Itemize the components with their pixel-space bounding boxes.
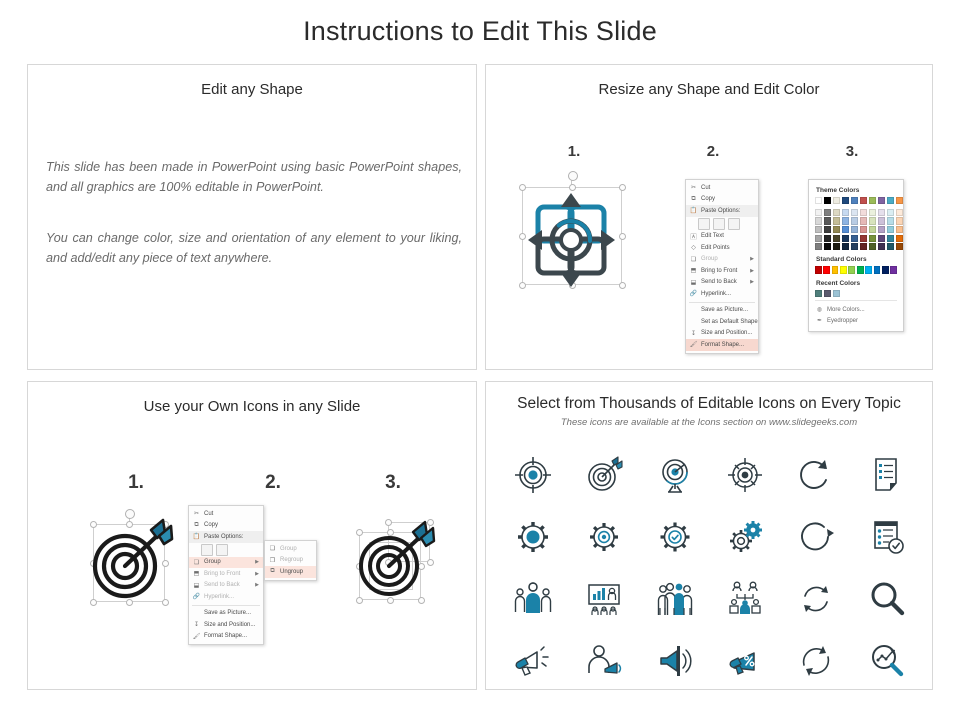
four-quadrant-shape-icon <box>514 175 629 290</box>
standard-colors-label: Standard Colors <box>816 256 897 263</box>
org-chart-icon <box>724 578 766 620</box>
theme-color-variant-swatch[interactable] <box>887 226 894 233</box>
submenu-item-group[interactable]: ❏ Group <box>265 543 316 555</box>
send-back-icon: ⬓ <box>689 278 698 287</box>
icon-refresh-arrow[interactable] <box>781 444 852 506</box>
panel-edit-any-shape: Edit any Shape This slide has been made … <box>27 64 477 370</box>
chevron-right-icon: ▶ <box>255 571 259 577</box>
theme-color-variant-swatch[interactable] <box>887 235 894 242</box>
step-number-2: 2. <box>253 472 293 494</box>
instruction-paragraph-2: You can change color, size and orientati… <box>46 228 462 268</box>
presentation-audience-icon <box>583 578 625 620</box>
theme-color-variant-swatch[interactable] <box>860 209 867 216</box>
leadership-people-icon <box>512 578 554 620</box>
paste-keep-formatting-icon[interactable] <box>698 218 710 230</box>
ungroup-icon: ⧉ <box>268 567 277 576</box>
menu-item-group[interactable]: ❏ Group ▶ <box>189 557 263 569</box>
target-ungrouped-stage[interactable] <box>333 514 453 619</box>
palette-icon: ◍ <box>815 305 824 314</box>
theme-color-column[interactable] <box>860 197 867 250</box>
theme-color-variant-swatch[interactable] <box>842 217 849 224</box>
icon-target-stand[interactable] <box>639 444 710 506</box>
target-arrow-icon <box>73 512 183 617</box>
theme-color-swatch[interactable] <box>842 197 849 204</box>
step-number-1: 1. <box>116 472 156 494</box>
icon-gear-dot[interactable] <box>569 506 640 568</box>
theme-color-variant-swatch[interactable] <box>878 226 885 233</box>
menu-item-copy[interactable]: ⧉ Copy <box>686 194 758 206</box>
menu-item-format-shape[interactable]: 🖌 Format Shape... <box>686 339 758 351</box>
group-icon: ❏ <box>192 558 201 567</box>
cycle-arrows-icon <box>795 578 837 620</box>
menu-item-bring-to-front[interactable]: ⬒ Bring to Front ▶ <box>189 568 263 580</box>
page-title: Instructions to Edit This Slide <box>0 16 960 47</box>
format-shape-icon: 🖌 <box>192 632 201 641</box>
theme-color-swatch[interactable] <box>896 197 903 204</box>
chevron-right-icon: ▶ <box>255 582 259 588</box>
theme-color-variant-swatch[interactable] <box>833 243 840 250</box>
clipboard-icon: 📋 <box>192 532 201 541</box>
icon-circular-arrow[interactable] <box>781 506 852 568</box>
menu-separator <box>192 605 260 606</box>
icon-crosshair-scope[interactable] <box>710 444 781 506</box>
theme-color-variant-swatch[interactable] <box>815 217 822 224</box>
more-colors-button[interactable]: ◍ More Colors... <box>815 304 897 315</box>
icon-leadership-people[interactable] <box>498 568 569 630</box>
group-icon: ❏ <box>689 255 698 264</box>
theme-color-swatch[interactable] <box>860 197 867 204</box>
copy-icon: ⧉ <box>689 195 698 204</box>
team-group-icon <box>654 578 696 620</box>
none-icon <box>192 609 201 618</box>
panel-heading: Resize any Shape and Edit Color <box>486 81 932 98</box>
theme-color-variant-swatch[interactable] <box>842 209 849 216</box>
panel-heading: Use your Own Icons in any Slide <box>28 398 476 415</box>
menu-item-edit-text[interactable]: 🄰 Edit Text <box>686 231 758 243</box>
theme-color-variant-swatch[interactable] <box>878 217 885 224</box>
gear-dot-icon <box>583 516 625 558</box>
double-gear-icon <box>724 516 766 558</box>
panel-resize-any-shape: Resize any Shape and Edit Color 1. 2. 3. <box>485 64 933 370</box>
speaker-icon <box>654 640 696 682</box>
instruction-paragraph-1: This slide has been made in PowerPoint u… <box>46 157 462 197</box>
standard-color-swatch[interactable] <box>865 266 872 273</box>
panel-use-own-icons: Use your Own Icons in any Slide 1. 2. 3. <box>27 381 477 690</box>
icon-discount-megaphone[interactable] <box>710 630 781 692</box>
theme-color-swatch[interactable] <box>833 197 840 204</box>
format-shape-icon: 🖌 <box>689 340 698 349</box>
theme-color-variant-swatch[interactable] <box>842 243 849 250</box>
standard-color-swatch[interactable] <box>874 266 881 273</box>
standard-color-swatch[interactable] <box>832 266 839 273</box>
theme-color-swatch[interactable] <box>887 197 894 204</box>
theme-color-variant-swatch[interactable] <box>896 243 903 250</box>
paste-picture-icon[interactable] <box>216 544 228 556</box>
refresh-arrow-icon <box>795 454 837 496</box>
theme-color-variant-swatch[interactable] <box>887 209 894 216</box>
theme-color-variant-swatch[interactable] <box>878 235 885 242</box>
theme-color-column[interactable] <box>842 197 849 250</box>
icon-cycle-arrows[interactable] <box>781 568 852 630</box>
megaphone-icon <box>512 640 554 682</box>
menu-item-copy[interactable]: ⧉ Copy <box>189 520 263 532</box>
size-position-icon: ↧ <box>689 329 698 338</box>
theme-color-swatch[interactable] <box>824 197 831 204</box>
theme-color-variant-swatch[interactable] <box>824 209 831 216</box>
icon-document-check[interactable] <box>851 506 922 568</box>
menu-separator <box>689 302 755 303</box>
none-icon <box>689 306 698 315</box>
icon-presentation-audience[interactable] <box>569 568 640 630</box>
submenu-item-ungroup[interactable]: ⧉ Ungroup <box>265 566 316 578</box>
theme-color-variant-swatch[interactable] <box>824 243 831 250</box>
theme-color-swatch[interactable] <box>851 197 858 204</box>
bring-front-icon: ⬒ <box>689 266 698 275</box>
panel-icon-library: Select from Thousands of Editable Icons … <box>485 381 933 690</box>
theme-color-column[interactable] <box>824 197 831 250</box>
step-number-2: 2. <box>693 143 733 160</box>
icon-magnifier[interactable] <box>851 568 922 630</box>
gear-check-icon <box>654 516 696 558</box>
target-grouped-stage[interactable] <box>73 512 183 617</box>
group-icon: ❏ <box>268 544 277 553</box>
menu-item-group[interactable]: ❏ Group ▶ <box>686 254 758 266</box>
theme-color-variant-swatch[interactable] <box>878 243 885 250</box>
menu-item-save-as-picture[interactable]: Save as Picture... <box>189 608 263 620</box>
theme-color-variant-swatch[interactable] <box>833 209 840 216</box>
theme-color-variant-swatch[interactable] <box>860 217 867 224</box>
standard-color-swatch[interactable] <box>857 266 864 273</box>
edit-text-icon: 🄰 <box>689 232 698 241</box>
icon-team-group[interactable] <box>639 568 710 630</box>
menu-item-bring-to-front[interactable]: ⬒ Bring to Front ▶ <box>686 265 758 277</box>
send-back-icon: ⬓ <box>192 581 201 590</box>
panel-subheading: These icons are available at the Icons s… <box>486 417 932 428</box>
scissors-icon: ✂ <box>689 183 698 192</box>
powerpoint-context-menu-group[interactable]: ✂ Cut ⧉ Copy 📋 Paste Options: ❏ Group ▶ <box>188 505 264 645</box>
theme-color-variant-swatch[interactable] <box>896 226 903 233</box>
color-picker-panel[interactable]: Theme Colors Standard Colors Recent Colo… <box>808 179 904 332</box>
theme-color-variant-swatch[interactable] <box>887 217 894 224</box>
theme-color-variant-swatch[interactable] <box>824 235 831 242</box>
theme-color-variant-swatch[interactable] <box>869 243 876 250</box>
menu-item-hyperlink[interactable]: 🔗 Hyperlink... <box>189 591 263 603</box>
theme-color-variant-swatch[interactable] <box>896 235 903 242</box>
icon-double-gear[interactable] <box>710 506 781 568</box>
menu-item-cut[interactable]: ✂ Cut <box>686 182 758 194</box>
theme-color-swatch[interactable] <box>869 197 876 204</box>
panel-heading: Select from Thousands of Editable Icons … <box>486 395 932 413</box>
circular-arrow-icon <box>795 516 837 558</box>
icon-rotate-cycle[interactable] <box>781 630 852 692</box>
recent-colors-row[interactable] <box>815 290 897 297</box>
theme-color-variant-swatch[interactable] <box>851 243 858 250</box>
menu-item-cut[interactable]: ✂ Cut <box>189 508 263 520</box>
theme-color-column[interactable] <box>851 197 858 250</box>
magnifier-chart-icon <box>866 640 908 682</box>
theme-color-column[interactable] <box>815 197 822 250</box>
regroup-icon: ❐ <box>268 556 277 565</box>
theme-color-variant-swatch[interactable] <box>833 226 840 233</box>
theme-colors-label: Theme Colors <box>816 187 897 194</box>
size-position-icon: ↧ <box>192 620 201 629</box>
icon-megaphone[interactable] <box>498 630 569 692</box>
hyperlink-icon: 🔗 <box>192 592 201 601</box>
standard-color-swatch[interactable] <box>848 266 855 273</box>
standard-color-swatch[interactable] <box>840 266 847 273</box>
theme-color-variant-swatch[interactable] <box>842 235 849 242</box>
theme-color-variant-swatch[interactable] <box>815 226 822 233</box>
menu-item-format-shape[interactable]: 🖌 Format Shape... <box>189 631 263 643</box>
panel-heading: Edit any Shape <box>28 81 476 98</box>
chevron-right-icon: ▶ <box>255 559 259 565</box>
theme-color-variant-swatch[interactable] <box>860 243 867 250</box>
theme-color-variant-swatch[interactable] <box>887 243 894 250</box>
theme-color-variant-swatch[interactable] <box>842 226 849 233</box>
chevron-right-icon: ▶ <box>750 256 754 262</box>
paste-keep-formatting-icon[interactable] <box>201 544 213 556</box>
standard-color-swatch[interactable] <box>882 266 889 273</box>
theme-color-variant-swatch[interactable] <box>869 235 876 242</box>
hyperlink-icon: 🔗 <box>689 289 698 298</box>
eyedropper-icon: ✒ <box>815 316 824 325</box>
theme-color-variant-swatch[interactable] <box>851 226 858 233</box>
edit-points-icon: ◇ <box>689 243 698 252</box>
standard-color-swatch[interactable] <box>823 266 830 273</box>
scissors-icon: ✂ <box>192 509 201 518</box>
icon-speaker[interactable] <box>639 630 710 692</box>
theme-color-column[interactable] <box>869 197 876 250</box>
icon-magnifier-chart[interactable] <box>851 630 922 692</box>
theme-color-variant-swatch[interactable] <box>815 243 822 250</box>
theme-color-variant-swatch[interactable] <box>896 217 903 224</box>
none-icon <box>689 317 698 326</box>
copy-icon: ⧉ <box>192 521 201 530</box>
theme-color-variant-swatch[interactable] <box>833 217 840 224</box>
menu-item-paste-options: 📋 Paste Options: <box>189 531 263 543</box>
icon-org-chart[interactable] <box>710 568 781 630</box>
rotate-cycle-icon <box>795 640 837 682</box>
crosshair-scope-icon <box>724 454 766 496</box>
menu-item-edit-points[interactable]: ◇ Edit Points <box>686 242 758 254</box>
theme-color-variant-swatch[interactable] <box>869 226 876 233</box>
standard-colors-row[interactable] <box>815 266 897 273</box>
powerpoint-context-menu[interactable]: ✂ Cut ⧉ Copy 📋 Paste Options: 🄰 Edit Tex… <box>685 179 759 354</box>
checklist-document-icon <box>866 454 908 496</box>
theme-color-variant-swatch[interactable] <box>815 235 822 242</box>
group-submenu[interactable]: ❏ Group ❐ Regroup ⧉ Ungroup <box>264 540 317 581</box>
theme-color-swatch[interactable] <box>815 197 822 204</box>
four-quadrant-shape-stage[interactable] <box>514 175 629 290</box>
menu-item-paste-options: 📋 Paste Options: <box>686 205 758 217</box>
icon-checklist-document[interactable] <box>851 444 922 506</box>
paste-merge-formatting-icon[interactable] <box>713 218 725 230</box>
theme-color-variant-swatch[interactable] <box>860 226 867 233</box>
target-stand-icon <box>654 454 696 496</box>
standard-color-swatch[interactable] <box>815 266 822 273</box>
icon-target-arrow[interactable] <box>569 444 640 506</box>
divider <box>815 300 897 301</box>
theme-color-variant-swatch[interactable] <box>860 235 867 242</box>
menu-item-send-to-back[interactable]: ⬓ Send to Back ▶ <box>189 580 263 592</box>
theme-color-column[interactable] <box>896 197 903 250</box>
theme-color-column[interactable] <box>833 197 840 250</box>
icon-gear-check[interactable] <box>639 506 710 568</box>
menu-item-hyperlink[interactable]: 🔗 Hyperlink... <box>686 288 758 300</box>
recent-color-swatch[interactable] <box>833 290 840 297</box>
eyedropper-button[interactable]: ✒ Eyedropper <box>815 315 897 326</box>
paste-option-buttons[interactable] <box>686 217 758 231</box>
step-number-1: 1. <box>554 143 594 160</box>
paste-option-buttons[interactable] <box>189 543 263 557</box>
menu-item-size-and-position[interactable]: ↧ Size and Position... <box>686 328 758 340</box>
chevron-right-icon: ▶ <box>750 268 754 274</box>
icon-gear-filled[interactable] <box>498 506 569 568</box>
theme-color-variant-swatch[interactable] <box>851 209 858 216</box>
recent-color-swatch[interactable] <box>824 290 831 297</box>
chevron-right-icon: ▶ <box>750 279 754 285</box>
theme-color-variant-swatch[interactable] <box>878 209 885 216</box>
icon-library-grid <box>498 444 922 692</box>
target-arrow-ungrouped-icon <box>333 514 453 619</box>
theme-color-column[interactable] <box>878 197 885 250</box>
discount-megaphone-icon <box>724 640 766 682</box>
theme-color-variant-swatch[interactable] <box>869 217 876 224</box>
submenu-item-regroup[interactable]: ❐ Regroup <box>265 555 316 567</box>
target-arrow-icon <box>583 454 625 496</box>
standard-color-swatch[interactable] <box>890 266 897 273</box>
magnifier-icon <box>866 578 908 620</box>
theme-color-variant-swatch[interactable] <box>824 217 831 224</box>
menu-item-send-to-back[interactable]: ⬓ Send to Back ▶ <box>686 277 758 289</box>
menu-item-save-as-picture[interactable]: Save as Picture... <box>686 305 758 317</box>
crosshair-target-icon <box>512 454 554 496</box>
document-check-icon <box>866 516 908 558</box>
paste-picture-icon[interactable] <box>728 218 740 230</box>
theme-color-variant-swatch[interactable] <box>851 217 858 224</box>
gear-filled-icon <box>512 516 554 558</box>
icon-crosshair-target[interactable] <box>498 444 569 506</box>
menu-item-size-and-position[interactable]: ↧ Size and Position... <box>189 619 263 631</box>
theme-colors-grid[interactable] <box>815 197 897 250</box>
person-megaphone-icon <box>583 640 625 682</box>
theme-color-variant-swatch[interactable] <box>851 235 858 242</box>
icon-person-megaphone[interactable] <box>569 630 640 692</box>
step-number-3: 3. <box>832 143 872 160</box>
recent-colors-label: Recent Colors <box>816 280 897 287</box>
theme-color-variant-swatch[interactable] <box>833 235 840 242</box>
recent-color-swatch[interactable] <box>815 290 822 297</box>
step-number-3: 3. <box>373 472 413 494</box>
theme-color-variant-swatch[interactable] <box>896 209 903 216</box>
theme-color-swatch[interactable] <box>878 197 885 204</box>
theme-color-variant-swatch[interactable] <box>815 209 822 216</box>
theme-color-variant-swatch[interactable] <box>824 226 831 233</box>
menu-item-set-default-shape[interactable]: Set as Default Shape <box>686 316 758 328</box>
clipboard-icon: 📋 <box>689 206 698 215</box>
theme-color-column[interactable] <box>887 197 894 250</box>
theme-color-variant-swatch[interactable] <box>869 209 876 216</box>
bring-front-icon: ⬒ <box>192 569 201 578</box>
slide-canvas: Instructions to Edit This Slide Edit any… <box>0 0 960 720</box>
